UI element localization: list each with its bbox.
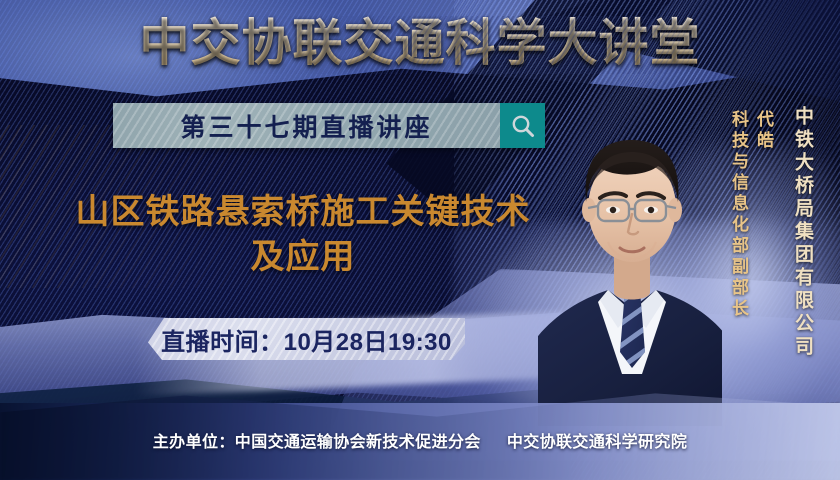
speaker-credit: 代皓 科技与信息化部副部长 [726,110,776,320]
organizer-footer: 主办单位：中国交通运输协会新技术促进分会中交协联交通科学研究院 [0,428,840,452]
organizer-prefix: 主办单位： [153,434,235,451]
organizer-2: 中交协联交通科学研究院 [507,434,687,451]
lecture-title: 山区铁路悬索桥施工关键技术 及应用 [48,190,558,280]
episode-label: 第三十七期直播讲座 [180,108,432,144]
live-lecture-poster: 中交协联交通科学大讲堂 第三十七期直播讲座 山区铁路悬索桥施工关键技术 及应用 … [0,0,840,480]
organizer-1: 中国交通运输协会新技术促进分会 [235,434,481,451]
speaker-organization: 中铁大桥局集团有限公司 [789,106,816,359]
speaker-portrait [538,96,722,426]
search-icon[interactable] [500,103,545,148]
page-title: 中交协联交通科学大讲堂 [0,16,840,70]
lecture-title-line-2: 及应用 [48,235,558,280]
broadcast-time-badge: 直播时间：10月28日19:30 [148,318,465,360]
broadcast-time-label: 直播时间：10月28日19:30 [161,322,452,357]
speaker-position: 科技与信息化部副部长 [726,110,751,320]
episode-banner-body: 第三十七期直播讲座 [113,103,500,148]
speaker-name: 代皓 [751,110,776,320]
lecture-title-line-1: 山区铁路悬索桥施工关键技术 [48,190,558,235]
episode-banner: 第三十七期直播讲座 [113,103,545,148]
